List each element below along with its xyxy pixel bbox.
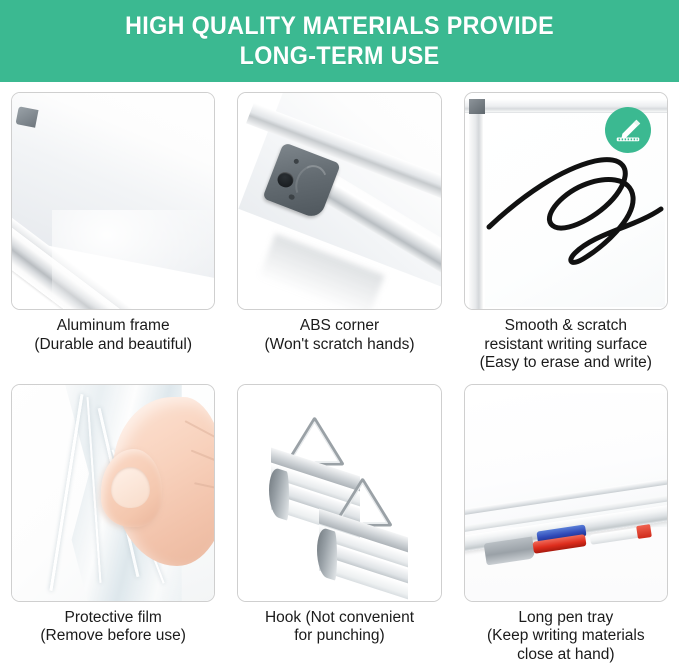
hooks-photo xyxy=(238,385,440,601)
feature-caption: Hook (Not convenient for punching) xyxy=(265,609,414,646)
feature-image-abs-corner xyxy=(237,92,441,310)
frame-corner-cap xyxy=(15,106,38,127)
feature-image-hooks xyxy=(237,384,441,602)
feature-cell-writing-surface: Smooth & scratch resistant writing surfa… xyxy=(453,82,679,374)
writing-surface-photo xyxy=(465,93,667,309)
feature-image-aluminum-frame xyxy=(11,92,215,310)
screw-dot xyxy=(288,194,295,201)
feature-grid: Aluminum frame (Durable and beautiful) xyxy=(0,82,679,665)
thumbnail xyxy=(111,467,149,508)
feature-image-pen-tray xyxy=(464,384,668,602)
header-banner: HIGH QUALITY MATERIALS PROVIDE LONG-TERM… xyxy=(0,0,679,82)
feature-cell-protective-film: Protective film (Remove before use) xyxy=(0,374,226,665)
feature-caption: ABS corner (Won't scratch hands) xyxy=(265,317,415,354)
feature-caption: Aluminum frame (Durable and beautiful) xyxy=(34,317,192,354)
aluminum-frame-photo xyxy=(12,93,214,309)
frame-rail-left xyxy=(469,112,483,309)
feature-caption: Protective film (Remove before use) xyxy=(40,609,186,646)
mounting-hole xyxy=(275,170,295,190)
protective-film-photo xyxy=(12,385,214,601)
finger-line xyxy=(194,482,216,490)
feature-caption: Long pen tray (Keep writing materials cl… xyxy=(487,609,645,665)
feature-image-protective-film xyxy=(11,384,215,602)
marker-scribble xyxy=(483,135,668,285)
feature-cell-hooks: Hook (Not convenient for punching) xyxy=(226,374,452,665)
finger-line xyxy=(185,420,215,438)
feature-cell-aluminum-frame: Aluminum frame (Durable and beautiful) xyxy=(0,82,226,374)
gloss-highlight xyxy=(52,210,215,310)
feature-caption: Smooth & scratch resistant writing surfa… xyxy=(480,317,652,373)
feature-cell-pen-tray: Long pen tray (Keep writing materials cl… xyxy=(453,374,679,665)
marker-cap xyxy=(636,524,652,539)
abs-corner-photo xyxy=(238,93,440,309)
marker-pen-icon xyxy=(613,115,643,145)
clip-end-cap xyxy=(269,465,289,521)
pen-tray-photo xyxy=(465,385,667,601)
status-badge xyxy=(605,107,651,153)
molding-arc xyxy=(290,161,332,207)
feature-cell-abs-corner: ABS corner (Won't scratch hands) xyxy=(226,82,452,374)
clip-end-cap xyxy=(317,526,337,582)
feature-image-writing-surface xyxy=(464,92,668,310)
banner-title: HIGH QUALITY MATERIALS PROVIDE LONG-TERM… xyxy=(125,11,554,71)
hook-item xyxy=(319,471,412,583)
product-feature-infographic: HIGH QUALITY MATERIALS PROVIDE LONG-TERM… xyxy=(0,0,679,665)
screw-dot xyxy=(292,158,299,165)
finger-line xyxy=(191,449,215,462)
frame-corner-cap xyxy=(469,99,485,114)
